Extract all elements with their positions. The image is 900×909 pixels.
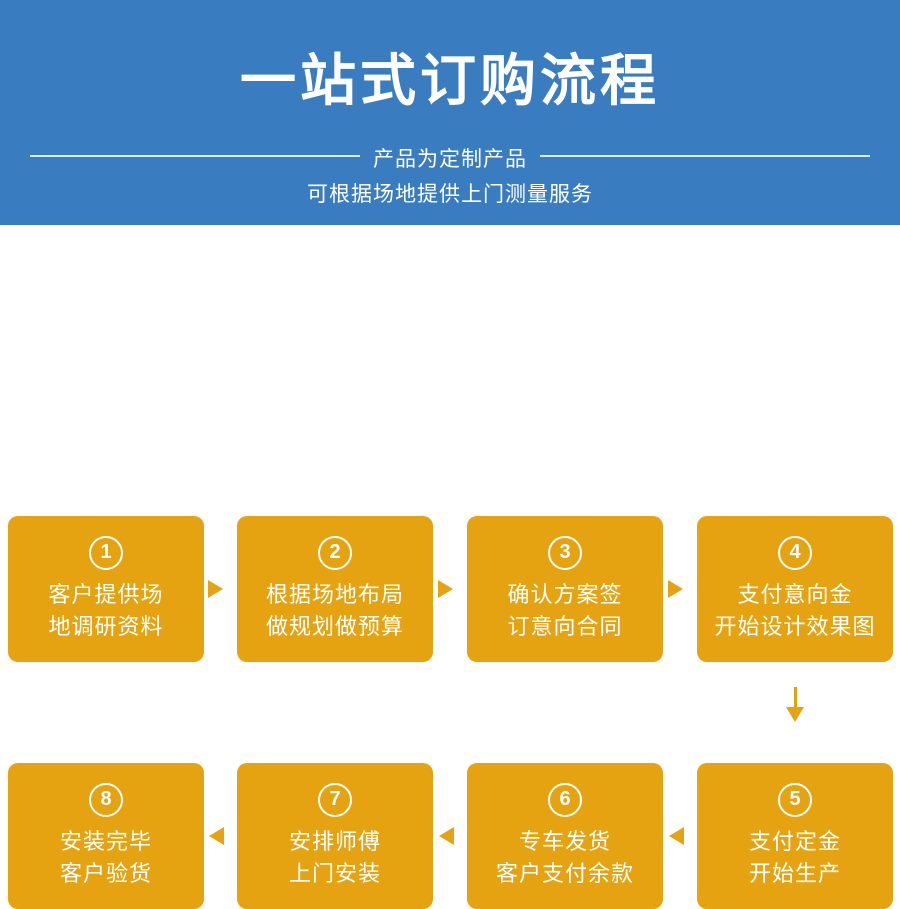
- arrow-left-icon-2: [439, 827, 454, 845]
- step-number-badge: 3: [548, 536, 582, 570]
- page-title: 一站式订购流程: [0, 52, 900, 111]
- arrow-right-icon-1: [208, 580, 223, 598]
- step-number-badge: 5: [778, 783, 812, 817]
- flow-step-1: 1 客户提供场 地调研资料: [8, 516, 204, 662]
- flow-step-2: 2 根据场地布局 做规划做预算: [237, 516, 433, 662]
- header-banner: 一站式订购流程 产品为定制产品 可根据场地提供上门测量服务: [0, 0, 900, 225]
- flow-step-3: 3 确认方案签 订意向合同: [467, 516, 663, 662]
- step-label: 专车发货 客户支付余款: [496, 826, 634, 890]
- flow-step-5: 5 支付定金 开始生产: [697, 763, 893, 909]
- step-label: 支付定金 开始生产: [749, 826, 841, 890]
- step-label: 安排师傅 上门安装: [289, 826, 381, 890]
- step-number-badge: 8: [89, 783, 123, 817]
- arrow-left-icon-1: [209, 827, 224, 845]
- step-label: 确认方案签 订意向合同: [507, 579, 622, 643]
- arrow-right-icon-2: [438, 580, 453, 598]
- flow-step-8: 8 安装完毕 客户验货: [8, 763, 204, 909]
- arrow-right-icon-3: [668, 580, 683, 598]
- banner-subtitle-1: 产品为定制产品: [0, 143, 900, 173]
- step-number-badge: 6: [548, 783, 582, 817]
- step-label: 安装完毕 客户验货: [60, 826, 152, 890]
- arrow-down-icon: [786, 707, 804, 722]
- step-number-badge: 1: [89, 536, 123, 570]
- flow-step-4: 4 支付意向金 开始设计效果图: [697, 516, 893, 662]
- step-number-badge: 4: [778, 536, 812, 570]
- step-label: 客户提供场 地调研资料: [48, 579, 163, 643]
- arrow-left-icon-3: [669, 827, 684, 845]
- step-label: 根据场地布局 做规划做预算: [266, 579, 404, 643]
- banner-subtitle-2: 可根据场地提供上门测量服务: [0, 178, 900, 208]
- flow-step-7: 7 安排师傅 上门安装: [237, 763, 433, 909]
- process-flow-diagram: 1 客户提供场 地调研资料 2 根据场地布局 做规划做预算 3 确认方案签 订意…: [0, 225, 900, 737]
- flow-step-6: 6 专车发货 客户支付余款: [467, 763, 663, 909]
- step-number-badge: 2: [318, 536, 352, 570]
- step-label: 支付意向金 开始设计效果图: [714, 579, 875, 643]
- arrow-down-stem: [794, 687, 797, 709]
- step-number-badge: 7: [318, 783, 352, 817]
